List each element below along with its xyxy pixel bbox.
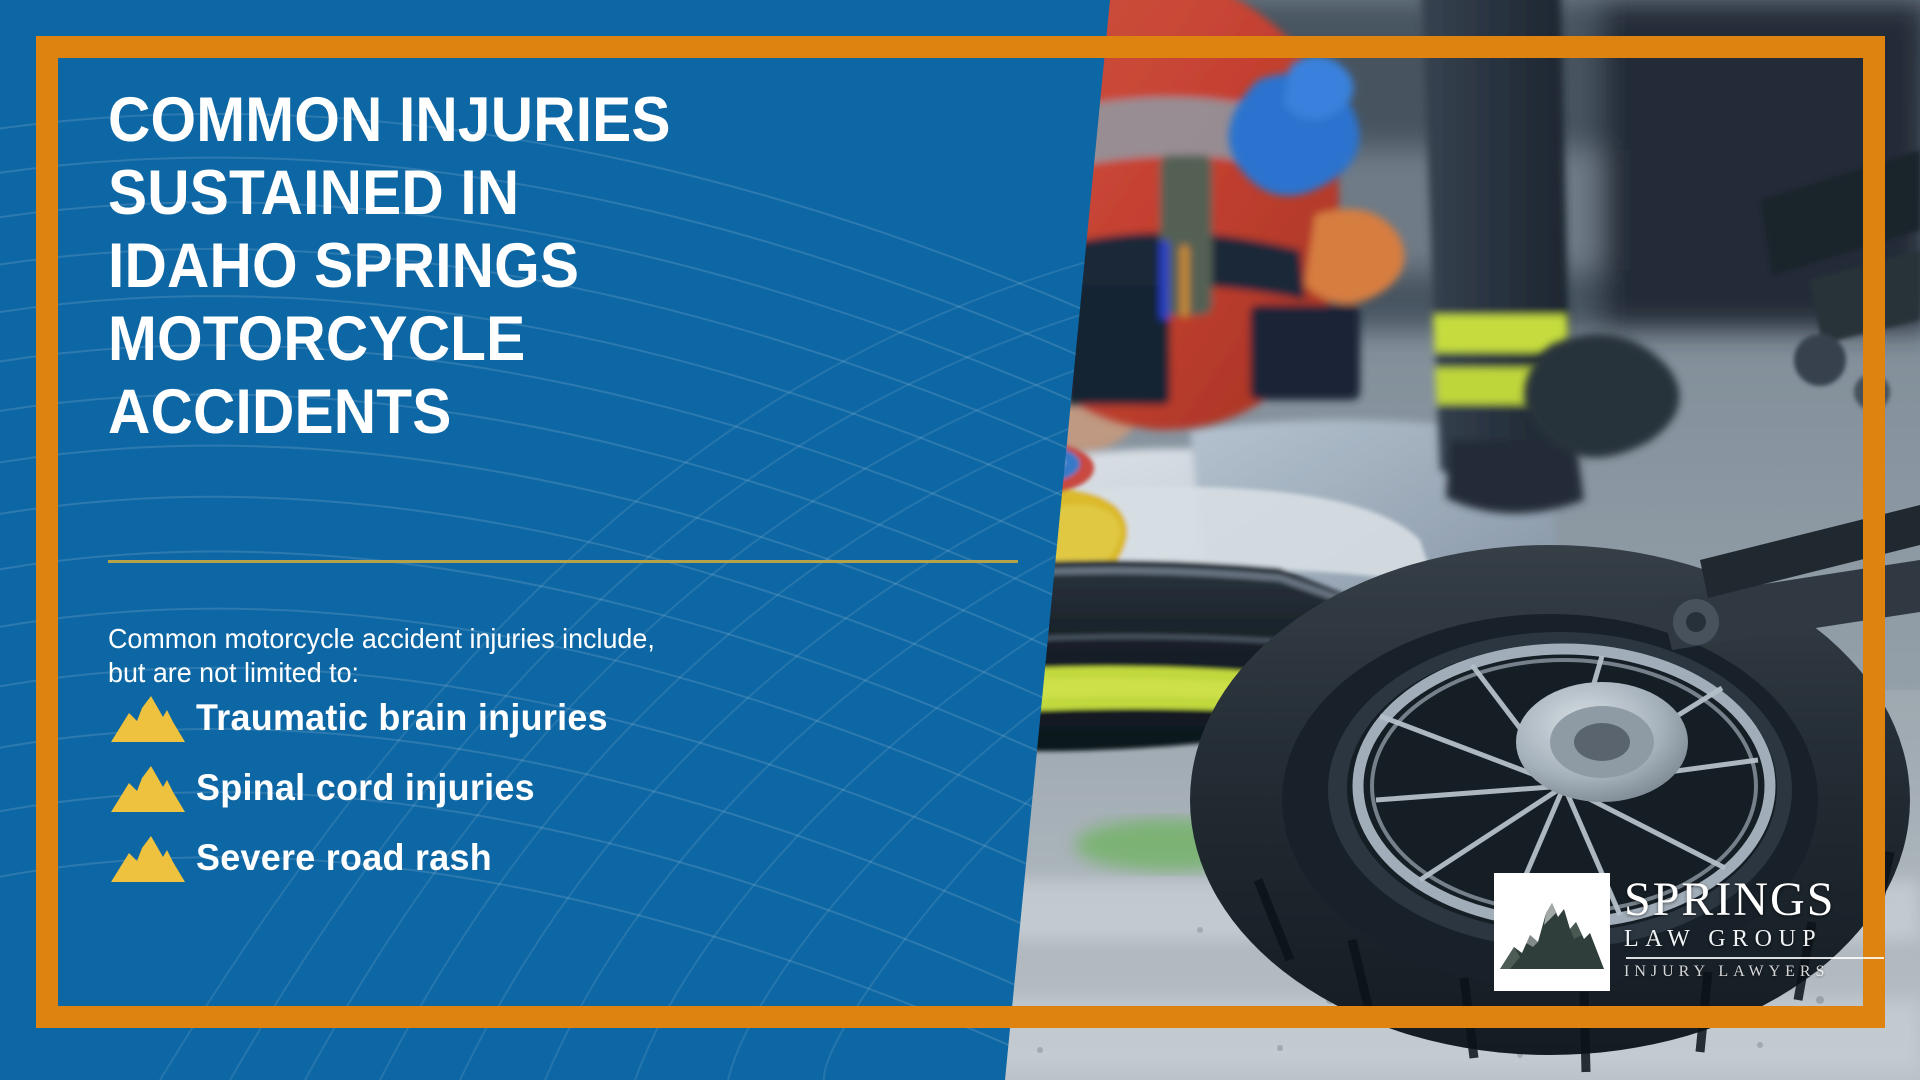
springs-law-group-logo: SPRINGS LAW GROUP INJURY LAWYERS xyxy=(1494,873,1884,991)
blue-content-panel: COMMON INJURIES SUSTAINED IN IDAHO SPRIN… xyxy=(0,0,1130,1080)
logo-tagline: INJURY LAWYERS xyxy=(1624,963,1884,981)
logo-subname: LAW GROUP xyxy=(1624,926,1884,952)
mountain-icon xyxy=(108,694,188,742)
logo-name: SPRINGS xyxy=(1624,875,1884,925)
logo-rule xyxy=(1626,957,1884,959)
mountain-logo-icon xyxy=(1494,873,1610,991)
mountain-icon xyxy=(108,764,188,812)
list-item: Severe road rash xyxy=(108,824,928,892)
subtitle-text: Common motorcycle accident injuries incl… xyxy=(108,622,780,690)
panel-content: COMMON INJURIES SUSTAINED IN IDAHO SPRIN… xyxy=(108,84,1008,449)
list-item-label: Traumatic brain injuries xyxy=(196,698,608,738)
logo-wordmark: SPRINGS LAW GROUP INJURY LAWYERS xyxy=(1624,873,1884,981)
gold-divider xyxy=(108,560,1018,563)
injury-list: Traumatic brain injuries Spinal cord inj… xyxy=(108,684,928,892)
mountain-icon xyxy=(108,834,188,882)
infographic-canvas: COMMON INJURIES SUSTAINED IN IDAHO SPRIN… xyxy=(0,0,1920,1080)
list-item: Spinal cord injuries xyxy=(108,754,928,822)
page-title: COMMON INJURIES SUSTAINED IN IDAHO SPRIN… xyxy=(108,84,945,449)
list-item-label: Severe road rash xyxy=(196,838,492,878)
list-item-label: Spinal cord injuries xyxy=(196,768,535,808)
list-item: Traumatic brain injuries xyxy=(108,684,928,752)
